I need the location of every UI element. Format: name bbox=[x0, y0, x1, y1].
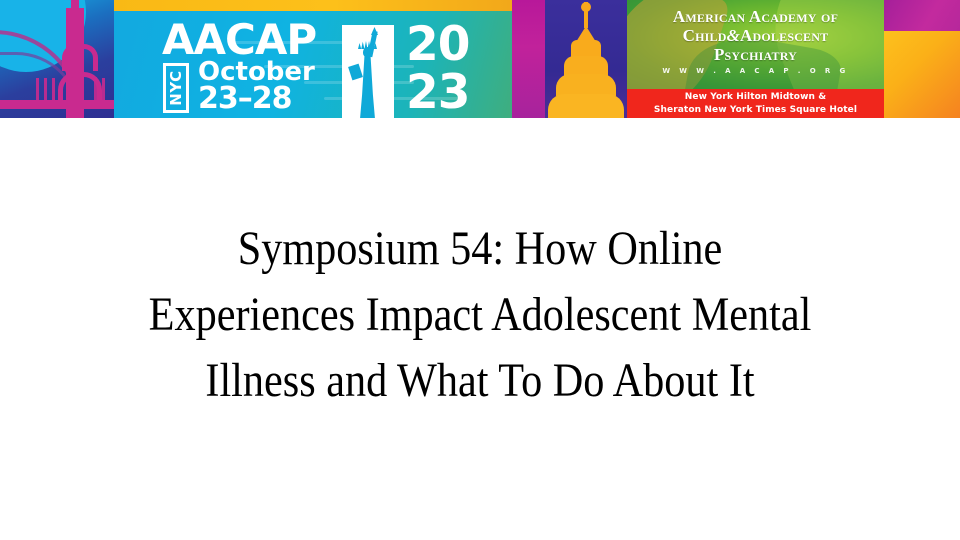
liberty-robe bbox=[360, 55, 375, 118]
venue-line-2: Sheraton New York Times Square Hotel bbox=[627, 104, 884, 117]
nyc-badge-label: NYC bbox=[167, 70, 185, 105]
bridge-strut bbox=[44, 78, 47, 102]
organization-name-line1: American Academy of bbox=[627, 7, 884, 26]
liberty-tablet bbox=[348, 64, 363, 81]
page-title-line-2: Experiences Impact Adolescent Mental bbox=[91, 282, 869, 348]
organization-name-line2: Child&Adolescent bbox=[627, 26, 884, 45]
page-title: Symposium 54: How Online Experiences Imp… bbox=[38, 216, 922, 414]
bridge-strut bbox=[94, 78, 97, 102]
bridge-strut bbox=[102, 78, 105, 102]
bridge-strut bbox=[52, 78, 55, 102]
organization-name: American Academy of Child&Adolescent Psy… bbox=[627, 7, 884, 64]
organization-child-word: Child bbox=[683, 26, 727, 45]
page-title-line-1: Symposium 54: How Online bbox=[91, 216, 869, 282]
magenta-divider-strip bbox=[512, 0, 545, 118]
statue-of-liberty-icon bbox=[342, 25, 394, 118]
spire-tier bbox=[556, 74, 616, 96]
conference-banner: AACAP NYC October 23–28 20 23 bbox=[0, 0, 960, 118]
bridge-deck bbox=[0, 100, 114, 109]
spire-tier bbox=[548, 94, 624, 118]
venue-line-1: New York Hilton Midtown & bbox=[627, 89, 884, 104]
venue-strip: New York Hilton Midtown & Sheraton New Y… bbox=[627, 89, 884, 118]
year-digits-bottom: 23 bbox=[406, 69, 469, 116]
aacap-logo-panel: American Academy of Child&Adolescent Psy… bbox=[627, 0, 884, 89]
presentation-slide: AACAP NYC October 23–28 20 23 bbox=[0, 0, 960, 540]
organization-website-url: W W W . A A C A P . O R G bbox=[627, 67, 884, 75]
ampersand-glyph: & bbox=[727, 26, 740, 45]
gold-accent-strip bbox=[114, 0, 512, 11]
meeting-info-panel: AACAP NYC October 23–28 20 23 bbox=[114, 11, 512, 118]
organization-adolescent-word: Adolescent bbox=[740, 26, 828, 45]
bridge-arch-upper bbox=[62, 44, 98, 71]
aacap-acronym-text: AACAP bbox=[162, 19, 316, 61]
bridge-strut bbox=[36, 78, 39, 102]
meeting-dates-text: 23–28 bbox=[198, 84, 292, 114]
year-digits-top: 20 bbox=[406, 21, 469, 68]
brooklyn-bridge-panel bbox=[0, 0, 114, 118]
orange-color-block bbox=[884, 31, 960, 118]
skyline-panel bbox=[545, 0, 627, 118]
purple-color-block bbox=[884, 0, 960, 31]
organization-name-line3: Psychiatry bbox=[627, 45, 884, 64]
page-title-line-3: Illness and What To Do About It bbox=[91, 348, 869, 414]
spire-tier bbox=[564, 56, 608, 76]
spire-needle bbox=[584, 2, 588, 28]
nyc-badge: NYC bbox=[163, 63, 189, 113]
